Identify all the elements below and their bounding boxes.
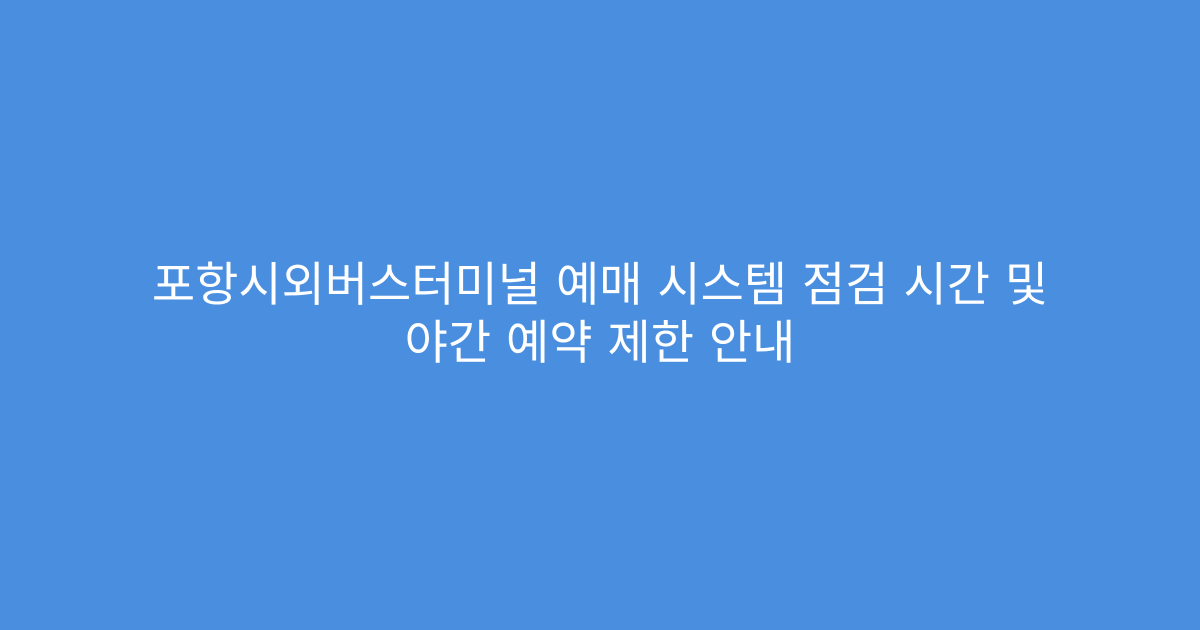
banner-card: 포항시외버스터미널 예매 시스템 점검 시간 및 야간 예약 제한 안내: [0, 0, 1200, 630]
banner-title: 포항시외버스터미널 예매 시스템 점검 시간 및 야간 예약 제한 안내: [152, 257, 1048, 373]
banner-content: 포항시외버스터미널 예매 시스템 점검 시간 및 야간 예약 제한 안내: [70, 257, 1130, 373]
